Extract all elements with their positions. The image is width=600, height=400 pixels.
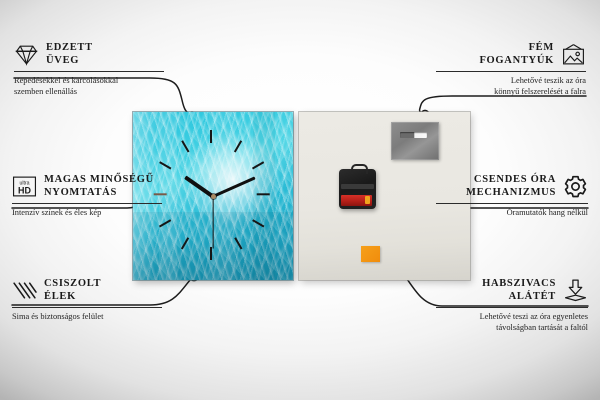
foam-pad	[361, 246, 380, 262]
polished-edges-icon	[12, 278, 37, 303]
product-photo	[133, 112, 470, 280]
clock-center-hub	[211, 194, 216, 199]
feature-subtitle: Lehetővé teszik az órakönnyű felszerelés…	[436, 76, 586, 97]
clock-tick	[181, 237, 190, 249]
gear-icon	[563, 174, 588, 199]
infographic-canvas: EDZETTÜVEG Repedésekkel és karcolásokkal…	[0, 0, 600, 400]
clock-tick	[252, 219, 264, 228]
feature-metal-handles: FÉMFOGANTYÚK Lehetővé teszik az órakönny…	[436, 42, 586, 97]
diamond-icon	[14, 42, 39, 67]
clock-second-hand	[212, 197, 213, 249]
feature-header: ultra HD MAGAS MINŐSÉGŰNYOMTATÁS	[12, 174, 162, 199]
clock-minute-hand	[212, 176, 255, 198]
foam-pad-arrow-icon	[563, 278, 588, 303]
mechanism-band	[341, 184, 374, 189]
feature-foam-pad: HABSZIVACSALÁTÉT Lehetővé teszi az óra e…	[436, 278, 588, 333]
clock-tick	[159, 219, 171, 228]
feature-subtitle: Óramutatók hang nélkül	[436, 208, 588, 219]
divider	[14, 71, 164, 72]
mechanism-hanger-loop	[351, 164, 368, 174]
feature-subtitle: Intenzív színek és éles kép	[12, 208, 162, 219]
metal-hanger-plate	[391, 122, 439, 160]
divider	[12, 307, 162, 308]
clock-tick	[181, 140, 190, 152]
feature-title: HABSZIVACSALÁTÉT	[482, 278, 556, 303]
quartz-mechanism	[339, 169, 376, 209]
feature-subtitle: Sima és biztonságos felület	[12, 312, 162, 323]
feature-header: EDZETTÜVEG	[14, 42, 164, 67]
battery	[341, 195, 372, 206]
feature-title: MAGAS MINŐSÉGŰNYOMTATÁS	[44, 174, 154, 199]
feature-title: CSISZOLTÉLEK	[44, 278, 101, 303]
divider	[436, 71, 586, 72]
feature-polished-edges: CSISZOLTÉLEK Sima és biztonságos felület	[12, 278, 162, 323]
feature-header: HABSZIVACSALÁTÉT	[436, 278, 588, 303]
clock-tick	[234, 237, 243, 249]
divider	[436, 203, 588, 204]
feature-subtitle: Lehetővé teszi az óra egyenletestávolság…	[436, 312, 588, 333]
clock-tick	[210, 247, 212, 260]
clock-hour-hand	[184, 176, 214, 198]
feature-subtitle: Repedésekkel és karcolásokkalszemben ell…	[14, 76, 164, 97]
feature-tempered-glass: EDZETTÜVEG Repedésekkel és karcolásokkal…	[14, 42, 164, 97]
connector-metal-handles	[420, 96, 586, 113]
clock-tick	[210, 130, 212, 143]
hanger-slot	[400, 132, 427, 138]
svg-text:HD: HD	[18, 185, 31, 195]
feature-title: EDZETTÜVEG	[46, 42, 93, 67]
clock-tick	[234, 140, 243, 152]
feature-high-quality-print: ultra HD MAGAS MINŐSÉGŰNYOMTATÁS Intenzí…	[12, 174, 162, 219]
picture-hanger-icon	[561, 42, 586, 67]
feature-header: CSISZOLTÉLEK	[12, 278, 162, 303]
feature-header: CSENDES ÓRAMECHANIZMUS	[436, 174, 588, 199]
feature-title: FÉMFOGANTYÚK	[479, 42, 554, 67]
feature-header: FÉMFOGANTYÚK	[436, 42, 586, 67]
feature-silent-mechanism: CSENDES ÓRAMECHANIZMUS Óramutatók hang n…	[436, 174, 588, 219]
clock-tick	[159, 161, 171, 170]
clock-tick	[257, 193, 270, 195]
ultra-hd-icon: ultra HD	[12, 174, 37, 199]
divider	[436, 307, 588, 308]
clock-tick	[252, 161, 264, 170]
feature-title: CSENDES ÓRAMECHANIZMUS	[466, 174, 556, 199]
divider	[12, 203, 162, 204]
